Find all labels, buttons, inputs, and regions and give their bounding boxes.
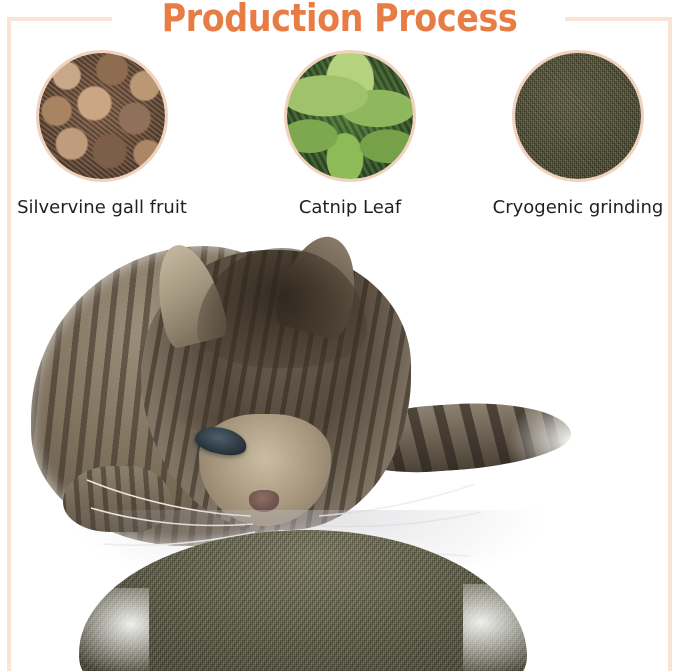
cat-tail-fade — [509, 396, 599, 486]
step-label-silvervine: Silvervine gall fruit — [2, 197, 202, 218]
powder-pile-left-fade — [59, 588, 149, 671]
powder-pile-right-fade — [463, 584, 563, 671]
cryogenic-powder-texture — [515, 53, 641, 179]
process-step-silvervine: Silvervine gall fruit — [2, 53, 202, 218]
catnip-texture — [287, 53, 413, 179]
cat-with-catnip-photo — [11, 228, 668, 671]
process-steps-row: Silvervine gall fruit Catnip Leaf Cryoge… — [0, 53, 679, 223]
silvervine-texture — [39, 53, 165, 179]
catnip-leaf-image — [287, 53, 413, 179]
process-step-cryogenic: Cryogenic grinding — [478, 53, 678, 218]
process-step-catnip: Catnip Leaf — [250, 53, 450, 218]
step-label-cryogenic: Cryogenic grinding — [478, 197, 678, 218]
production-process-infographic: Production Process Silvervine gall fruit… — [0, 0, 679, 671]
cryogenic-grinding-image — [515, 53, 641, 179]
step-label-catnip: Catnip Leaf — [250, 197, 450, 218]
page-title: Production Process — [41, 0, 639, 40]
silvervine-gall-fruit-image — [39, 53, 165, 179]
